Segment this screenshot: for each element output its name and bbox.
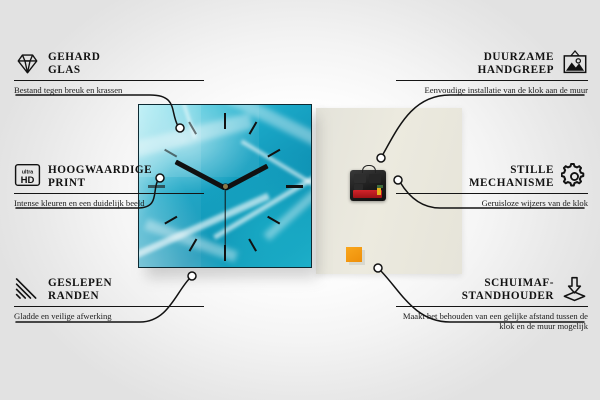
feature-title: DUURZAMEHANDGREEP [396,51,554,76]
feature-description: Intense kleuren en een duidelijk beeld [14,198,204,208]
feature-description: Eenvoudige installatie van de klok aan d… [396,85,588,95]
feature-description: Maakt het behouden van een gelijke afsta… [396,311,588,332]
feature-description: Geruisloze wijzers van de klok [396,198,588,208]
divider [396,80,588,81]
connector-node [176,124,184,132]
feature-gehard-glas: GEHARDGLAS Bestand tegen breuk en krasse… [14,50,204,95]
bevel-edge-icon [14,276,41,303]
svg-text:HD: HD [21,175,35,186]
ultra-hd-icon: ultra HD [14,163,41,190]
feature-description: Gladde en veilige afwerking [14,311,204,321]
gear-icon [561,163,588,190]
feature-title: GESLEPENRANDEN [48,277,204,302]
press-down-icon [561,276,588,303]
feature-title: STILLEMECHANISME [396,164,554,189]
picture-frame-icon [561,50,588,77]
divider [14,80,204,81]
feature-schuimafstandhouder: SCHUIMAF-STANDHOUDER Maakt het behouden … [396,276,588,331]
feature-title: HOOGWAARDIGEPRINT [48,164,204,189]
connector-node [377,154,385,162]
feature-description: Bestand tegen breuk en krassen [14,85,204,95]
feature-title: GEHARDGLAS [48,51,204,76]
divider [14,193,204,194]
divider [396,193,588,194]
divider [14,306,204,307]
feature-geslepen-randen: GESLEPENRANDEN Gladde en veilige afwerki… [14,276,204,321]
divider [396,306,588,307]
feature-title: SCHUIMAF-STANDHOUDER [396,277,554,302]
feature-hoogwaardige-print: ultra HD HOOGWAARDIGEPRINT Intense kleur… [14,163,204,208]
diamond-icon [14,50,41,77]
connector-node [374,264,382,272]
infographic-canvas: GEHARDGLAS Bestand tegen breuk en krasse… [0,0,600,400]
feature-duurzame-handgreep: DUURZAMEHANDGREEP Eenvoudige installatie… [396,50,588,95]
feature-stille-mechanisme: STILLEMECHANISME Geruisloze wijzers van … [396,163,588,208]
